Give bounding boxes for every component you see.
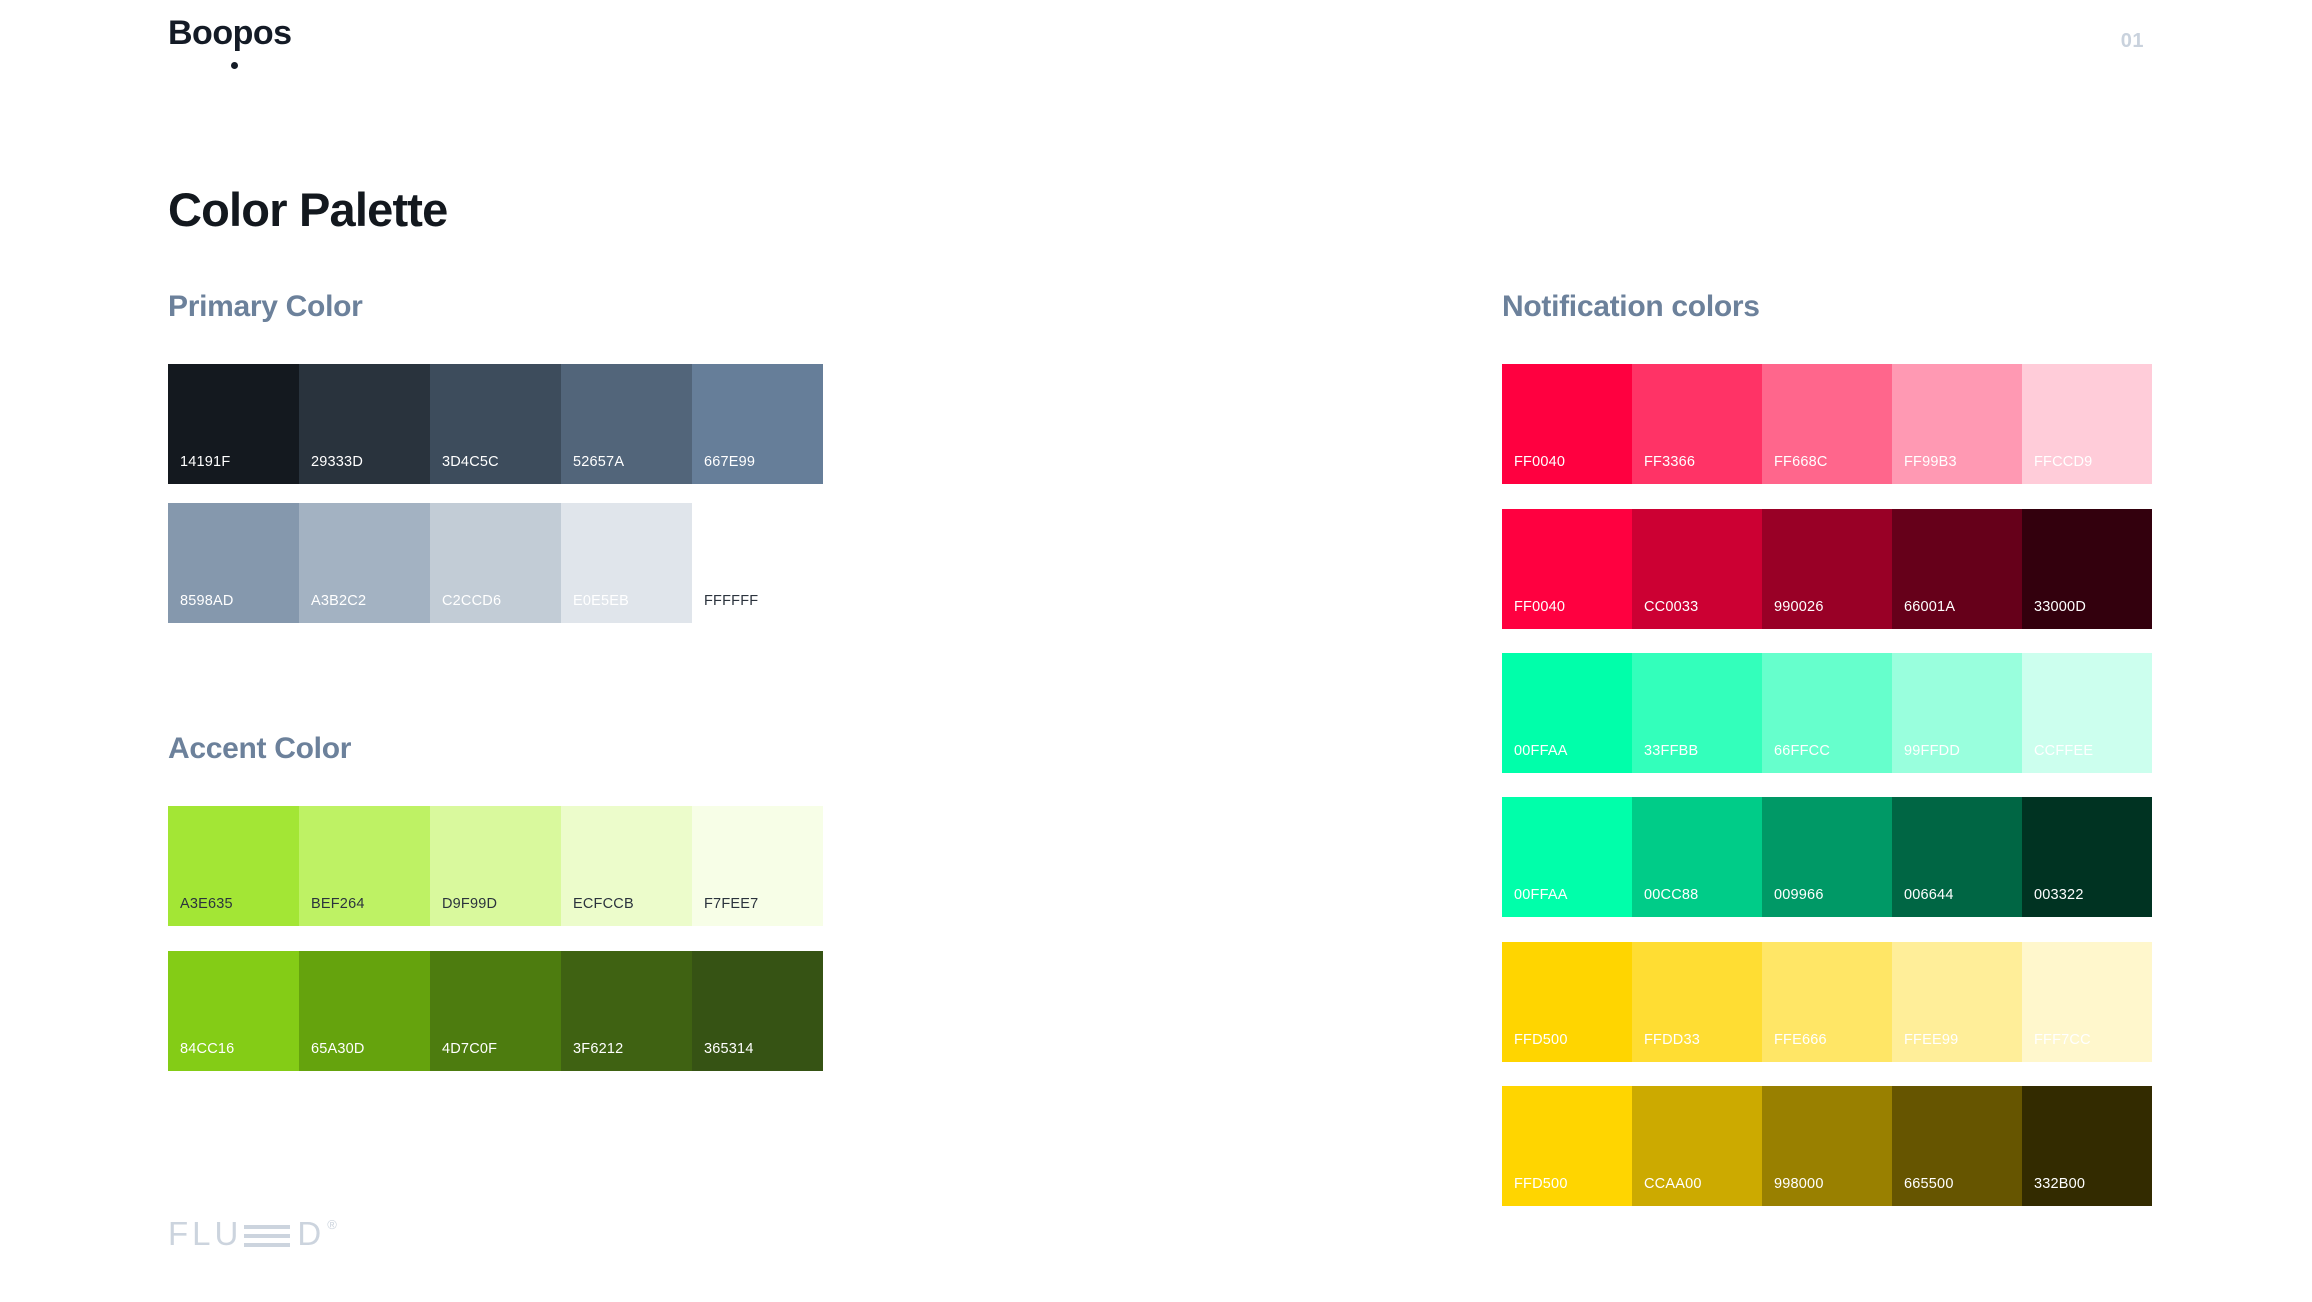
brand-logo-dot	[231, 62, 238, 69]
swatch-label: FF0040	[1502, 454, 1565, 484]
page-title: Color Palette	[168, 182, 448, 237]
color-swatch[interactable]: BEF264	[299, 806, 430, 926]
color-swatch[interactable]: 667E99	[692, 364, 823, 484]
swatch-label: 33000D	[2022, 599, 2086, 629]
color-swatch[interactable]: ECFCCB	[561, 806, 692, 926]
swatch-label: FFFFFF	[692, 593, 758, 623]
swatch-label: 990026	[1762, 599, 1824, 629]
section-heading-accent: Accent Color	[168, 732, 351, 766]
swatch-label: FFD500	[1502, 1032, 1568, 1062]
color-swatch[interactable]: 84CC16	[168, 951, 299, 1071]
color-swatch[interactable]: 003322	[2022, 797, 2152, 917]
swatch-label: 52657A	[561, 454, 624, 484]
swatch-row-notification-5: FFD500 FFDD33 FFE666 FFEE99 FFF7CC	[1502, 942, 2152, 1062]
swatch-row-primary-1: 14191F 29333D 3D4C5C 52657A 667E99	[168, 364, 823, 484]
color-swatch[interactable]: 52657A	[561, 364, 692, 484]
color-swatch[interactable]: 00FFAA	[1502, 797, 1632, 917]
color-swatch[interactable]: 332B00	[2022, 1086, 2152, 1206]
swatch-label: ECFCCB	[561, 896, 634, 926]
color-swatch[interactable]: 66001A	[1892, 509, 2022, 629]
swatch-label: FFF7CC	[2022, 1032, 2091, 1062]
color-swatch[interactable]: D9F99D	[430, 806, 561, 926]
swatch-row-accent-2: 84CC16 65A30D 4D7C0F 3F6212 365314	[168, 951, 823, 1071]
swatch-label: E0E5EB	[561, 593, 629, 623]
color-swatch[interactable]: F7FEE7	[692, 806, 823, 926]
color-swatch[interactable]: 365314	[692, 951, 823, 1071]
swatch-label: 66FFCC	[1762, 743, 1830, 773]
color-swatch[interactable]: 33FFBB	[1632, 653, 1762, 773]
brand-logo-text: Boopos	[168, 14, 292, 52]
footer-logo-bar	[244, 1243, 290, 1247]
swatch-label: 33FFBB	[1632, 743, 1698, 773]
swatch-label: 003322	[2022, 887, 2084, 917]
swatch-label: 665500	[1892, 1176, 1954, 1206]
color-swatch[interactable]: A3E635	[168, 806, 299, 926]
swatch-label: 00FFAA	[1502, 743, 1568, 773]
brand-logo: Boopos	[168, 16, 292, 50]
swatch-label: FFDD33	[1632, 1032, 1700, 1062]
color-swatch[interactable]: 3D4C5C	[430, 364, 561, 484]
swatch-label: 00FFAA	[1502, 887, 1568, 917]
color-swatch[interactable]: 33000D	[2022, 509, 2152, 629]
swatch-label: C2CCD6	[430, 593, 501, 623]
swatch-row-notification-2: FF0040 CC0033 990026 66001A 33000D	[1502, 509, 2152, 629]
swatch-row-primary-2: 8598AD A3B2C2 C2CCD6 E0E5EB FFFFFF	[168, 503, 823, 623]
swatch-label: FF3366	[1632, 454, 1695, 484]
color-swatch[interactable]: FF0040	[1502, 364, 1632, 484]
footer-logo-bar	[244, 1234, 290, 1238]
swatch-label: 009966	[1762, 887, 1824, 917]
swatch-label: FFEE99	[1892, 1032, 1958, 1062]
color-swatch[interactable]: FFEE99	[1892, 942, 2022, 1062]
swatch-label: A3E635	[168, 896, 233, 926]
color-swatch[interactable]: 998000	[1762, 1086, 1892, 1206]
swatch-label: 006644	[1892, 887, 1954, 917]
color-swatch[interactable]: 006644	[1892, 797, 2022, 917]
swatch-label: 14191F	[168, 454, 230, 484]
swatch-label: FF668C	[1762, 454, 1828, 484]
color-swatch[interactable]: FF0040	[1502, 509, 1632, 629]
swatch-label: FF99B3	[1892, 454, 1957, 484]
swatch-label: 998000	[1762, 1176, 1824, 1206]
section-heading-primary: Primary Color	[168, 290, 363, 324]
color-swatch[interactable]: 65A30D	[299, 951, 430, 1071]
color-swatch[interactable]: 99FFDD	[1892, 653, 2022, 773]
swatch-label: 29333D	[299, 454, 363, 484]
color-swatch[interactable]: 009966	[1762, 797, 1892, 917]
color-swatch[interactable]: 66FFCC	[1762, 653, 1892, 773]
color-swatch[interactable]: FFD500	[1502, 942, 1632, 1062]
swatch-label: 667E99	[692, 454, 755, 484]
color-swatch[interactable]: FFCCD9	[2022, 364, 2152, 484]
color-swatch[interactable]: CC0033	[1632, 509, 1762, 629]
swatch-label: F7FEE7	[692, 896, 758, 926]
color-swatch[interactable]: C2CCD6	[430, 503, 561, 623]
footer-logo: FLU D ®	[168, 1217, 341, 1250]
color-swatch[interactable]: 00CC88	[1632, 797, 1762, 917]
color-swatch[interactable]: 29333D	[299, 364, 430, 484]
color-swatch[interactable]: 4D7C0F	[430, 951, 561, 1071]
color-swatch[interactable]: FF668C	[1762, 364, 1892, 484]
swatch-label: 3D4C5C	[430, 454, 499, 484]
swatch-label: CCFFEE	[2022, 743, 2093, 773]
swatch-label: 84CC16	[168, 1041, 234, 1071]
swatch-label: 3F6212	[561, 1041, 623, 1071]
swatch-label: 00CC88	[1632, 887, 1698, 917]
swatch-label: FFE666	[1762, 1032, 1827, 1062]
color-swatch[interactable]: E0E5EB	[561, 503, 692, 623]
color-swatch[interactable]: FF99B3	[1892, 364, 2022, 484]
swatch-label: 365314	[692, 1041, 754, 1071]
swatch-label: 99FFDD	[1892, 743, 1960, 773]
swatch-row-notification-3: 00FFAA 33FFBB 66FFCC 99FFDD CCFFEE	[1502, 653, 2152, 773]
color-palette-page: Boopos 01 Color Palette Primary Color Ac…	[0, 0, 2312, 1302]
color-swatch[interactable]: CCAA00	[1632, 1086, 1762, 1206]
swatch-label: FFD500	[1502, 1176, 1568, 1206]
swatch-label: 66001A	[1892, 599, 1955, 629]
swatch-row-notification-4: 00FFAA 00CC88 009966 006644 003322	[1502, 797, 2152, 917]
color-swatch[interactable]: 00FFAA	[1502, 653, 1632, 773]
page-number: 01	[2121, 30, 2144, 53]
swatch-label: 4D7C0F	[430, 1041, 497, 1071]
swatch-label: CCAA00	[1632, 1176, 1702, 1206]
color-swatch[interactable]: FFE666	[1762, 942, 1892, 1062]
swatch-label: FF0040	[1502, 599, 1565, 629]
color-swatch[interactable]: FFFFFF	[692, 503, 823, 623]
swatch-label: 65A30D	[299, 1041, 365, 1071]
swatch-row-notification-6: FFD500 CCAA00 998000 665500 332B00	[1502, 1086, 2152, 1206]
footer-logo-suffix: D	[297, 1217, 325, 1250]
registered-trademark-icon: ®	[327, 1218, 341, 1231]
swatch-label: A3B2C2	[299, 593, 366, 623]
swatch-label: BEF264	[299, 896, 365, 926]
color-swatch[interactable]: 665500	[1892, 1086, 2022, 1206]
color-swatch[interactable]: FFF7CC	[2022, 942, 2152, 1062]
swatch-label: 332B00	[2022, 1176, 2085, 1206]
footer-logo-prefix: FLU	[168, 1217, 242, 1250]
section-heading-notification: Notification colors	[1502, 290, 1760, 324]
swatch-row-accent-1: A3E635 BEF264 D9F99D ECFCCB F7FEE7	[168, 806, 823, 926]
swatch-label: D9F99D	[430, 896, 497, 926]
swatch-label: FFCCD9	[2022, 454, 2092, 484]
color-swatch[interactable]: 14191F	[168, 364, 299, 484]
footer-logo-bars-icon	[244, 1217, 290, 1250]
color-swatch[interactable]: 3F6212	[561, 951, 692, 1071]
color-swatch[interactable]: 8598AD	[168, 503, 299, 623]
color-swatch[interactable]: 990026	[1762, 509, 1892, 629]
color-swatch[interactable]: FFD500	[1502, 1086, 1632, 1206]
color-swatch[interactable]: FF3366	[1632, 364, 1762, 484]
color-swatch[interactable]: FFDD33	[1632, 942, 1762, 1062]
swatch-label: 8598AD	[168, 593, 234, 623]
swatch-row-notification-1: FF0040 FF3366 FF668C FF99B3 FFCCD9	[1502, 364, 2152, 484]
color-swatch[interactable]: A3B2C2	[299, 503, 430, 623]
swatch-label: CC0033	[1632, 599, 1698, 629]
footer-logo-bar	[244, 1225, 290, 1229]
color-swatch[interactable]: CCFFEE	[2022, 653, 2152, 773]
